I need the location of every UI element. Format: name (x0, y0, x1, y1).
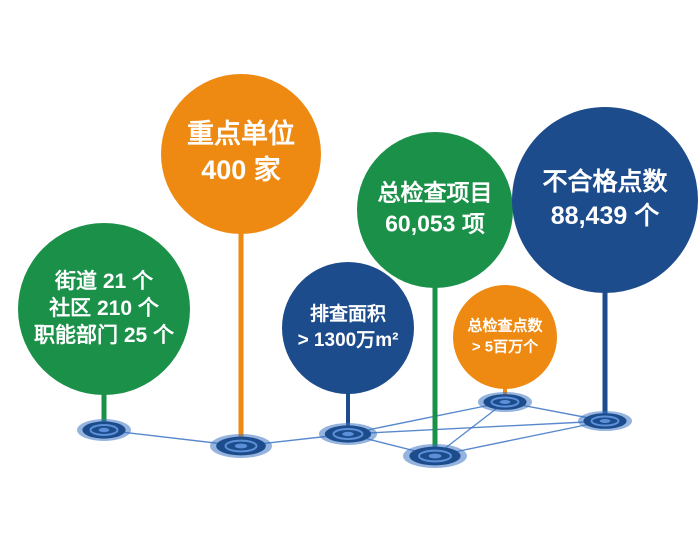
bubble-label-line: 总检查点数 (467, 316, 543, 334)
bubble-key-units-circle[interactable] (161, 74, 321, 234)
infographic-svg: 街道 21 个社区 210 个职能部门 25 个重点单位400 家排查面积> 1… (0, 0, 700, 553)
base-marker-total-items[interactable] (403, 444, 467, 468)
bubble-total-inspection-points[interactable]: 总检查点数> 5百万个 (453, 285, 557, 389)
bubble-nonconforming-points-circle[interactable] (512, 107, 698, 293)
bubble-label-line: > 5百万个 (472, 337, 539, 355)
bubble-key-units[interactable]: 重点单位400 家 (161, 74, 321, 234)
bubble-label-line: 60,053 项 (385, 211, 485, 237)
base-marker-nonconforming[interactable] (578, 411, 632, 431)
bubble-label-line: 排查面积 (310, 302, 386, 325)
bubble-label-line: 街道 21 个 (54, 269, 154, 293)
bubble-total-inspection-items[interactable]: 总检查项目60,053 项 (357, 132, 513, 288)
bubble-label-line: 职能部门 25 个 (34, 323, 175, 347)
bubble-label-line: > 1300万m² (298, 330, 399, 351)
connection-line (348, 421, 605, 434)
base-marker-key-units[interactable] (210, 434, 272, 458)
bubble-label-line: 重点单位 (187, 118, 295, 149)
bubble-label-line: 88,439 个 (551, 202, 660, 230)
bubble-label-line: 不合格点数 (542, 167, 668, 196)
base-markers (77, 392, 632, 468)
infographic-canvas: 街道 21 个社区 210 个职能部门 25 个重点单位400 家排查面积> 1… (0, 0, 700, 553)
bubble-nonconforming-points[interactable]: 不合格点数88,439 个 (512, 107, 698, 293)
base-marker-inspection-area[interactable] (319, 423, 377, 445)
bubble-streets-communities-departments[interactable]: 街道 21 个社区 210 个职能部门 25 个 (18, 223, 190, 395)
bubble-inspection-area-circle[interactable] (282, 262, 414, 394)
base-marker-total-points[interactable] (478, 392, 532, 412)
bubble-inspection-area[interactable]: 排查面积> 1300万m² (282, 262, 414, 394)
bubble-total-inspection-points-circle[interactable] (453, 285, 557, 389)
bubble-label-line: 社区 210 个 (48, 296, 160, 320)
bubble-label-line: 400 家 (201, 154, 281, 185)
base-marker-streets[interactable] (77, 419, 131, 441)
bubble-label-line: 总检查项目 (378, 180, 493, 206)
bubbles: 街道 21 个社区 210 个职能部门 25 个重点单位400 家排查面积> 1… (18, 74, 698, 395)
